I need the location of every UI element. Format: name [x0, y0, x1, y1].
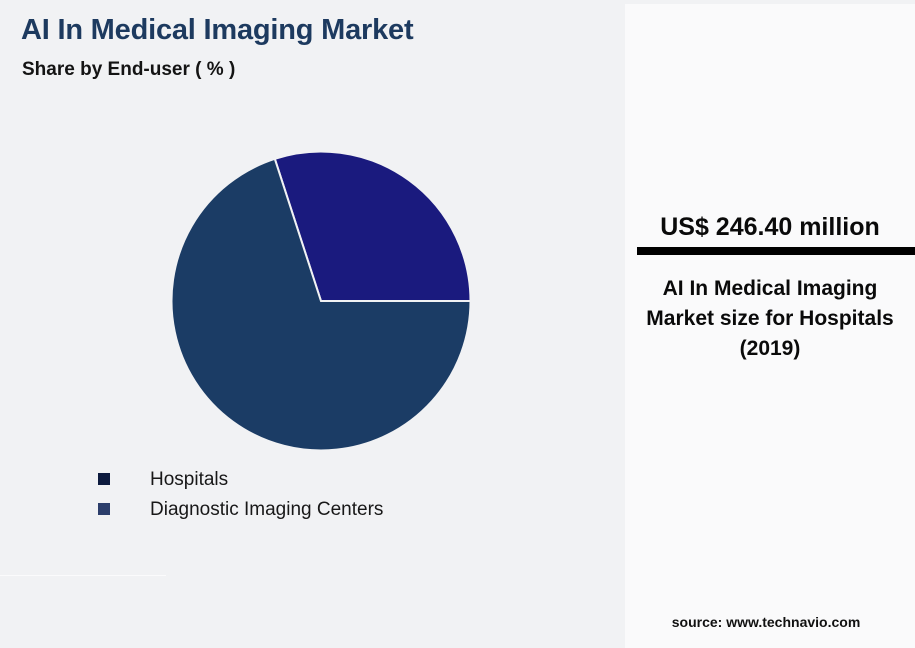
- kpi-underline-bar: [637, 247, 915, 255]
- legend-item-hospitals[interactable]: Hospitals: [98, 464, 528, 494]
- legend-item-diagnostic-imaging-centers[interactable]: Diagnostic Imaging Centers: [98, 494, 528, 524]
- legend-swatch-hospitals: [98, 473, 110, 485]
- kpi-value: US$ 246.40 million: [625, 213, 915, 242]
- infographic-canvas: AI In Medical Imaging Market Share by En…: [0, 0, 915, 648]
- kpi-description: AI In Medical Imaging Market size for Ho…: [633, 274, 907, 364]
- pie-chart-svg: [171, 151, 471, 451]
- page-title: AI In Medical Imaging Market: [21, 14, 413, 47]
- chart-legend: Hospitals Diagnostic Imaging Centers: [98, 464, 528, 524]
- legend-label-diagnostic-imaging-centers: Diagnostic Imaging Centers: [150, 500, 383, 519]
- divider-rule: [0, 575, 166, 576]
- legend-swatch-diagnostic-imaging-centers: [98, 503, 110, 515]
- legend-label-hospitals: Hospitals: [150, 470, 228, 489]
- chart-subtitle: Share by End-user ( % ): [22, 59, 235, 81]
- chart-panel: AI In Medical Imaging Market Share by En…: [0, 0, 622, 648]
- pie-chart: [171, 151, 471, 451]
- panel-top-strip: [625, 0, 915, 4]
- kpi-panel: US$ 246.40 million AI In Medical Imaging…: [625, 0, 915, 648]
- source-note: source: www.technavio.com: [625, 614, 907, 630]
